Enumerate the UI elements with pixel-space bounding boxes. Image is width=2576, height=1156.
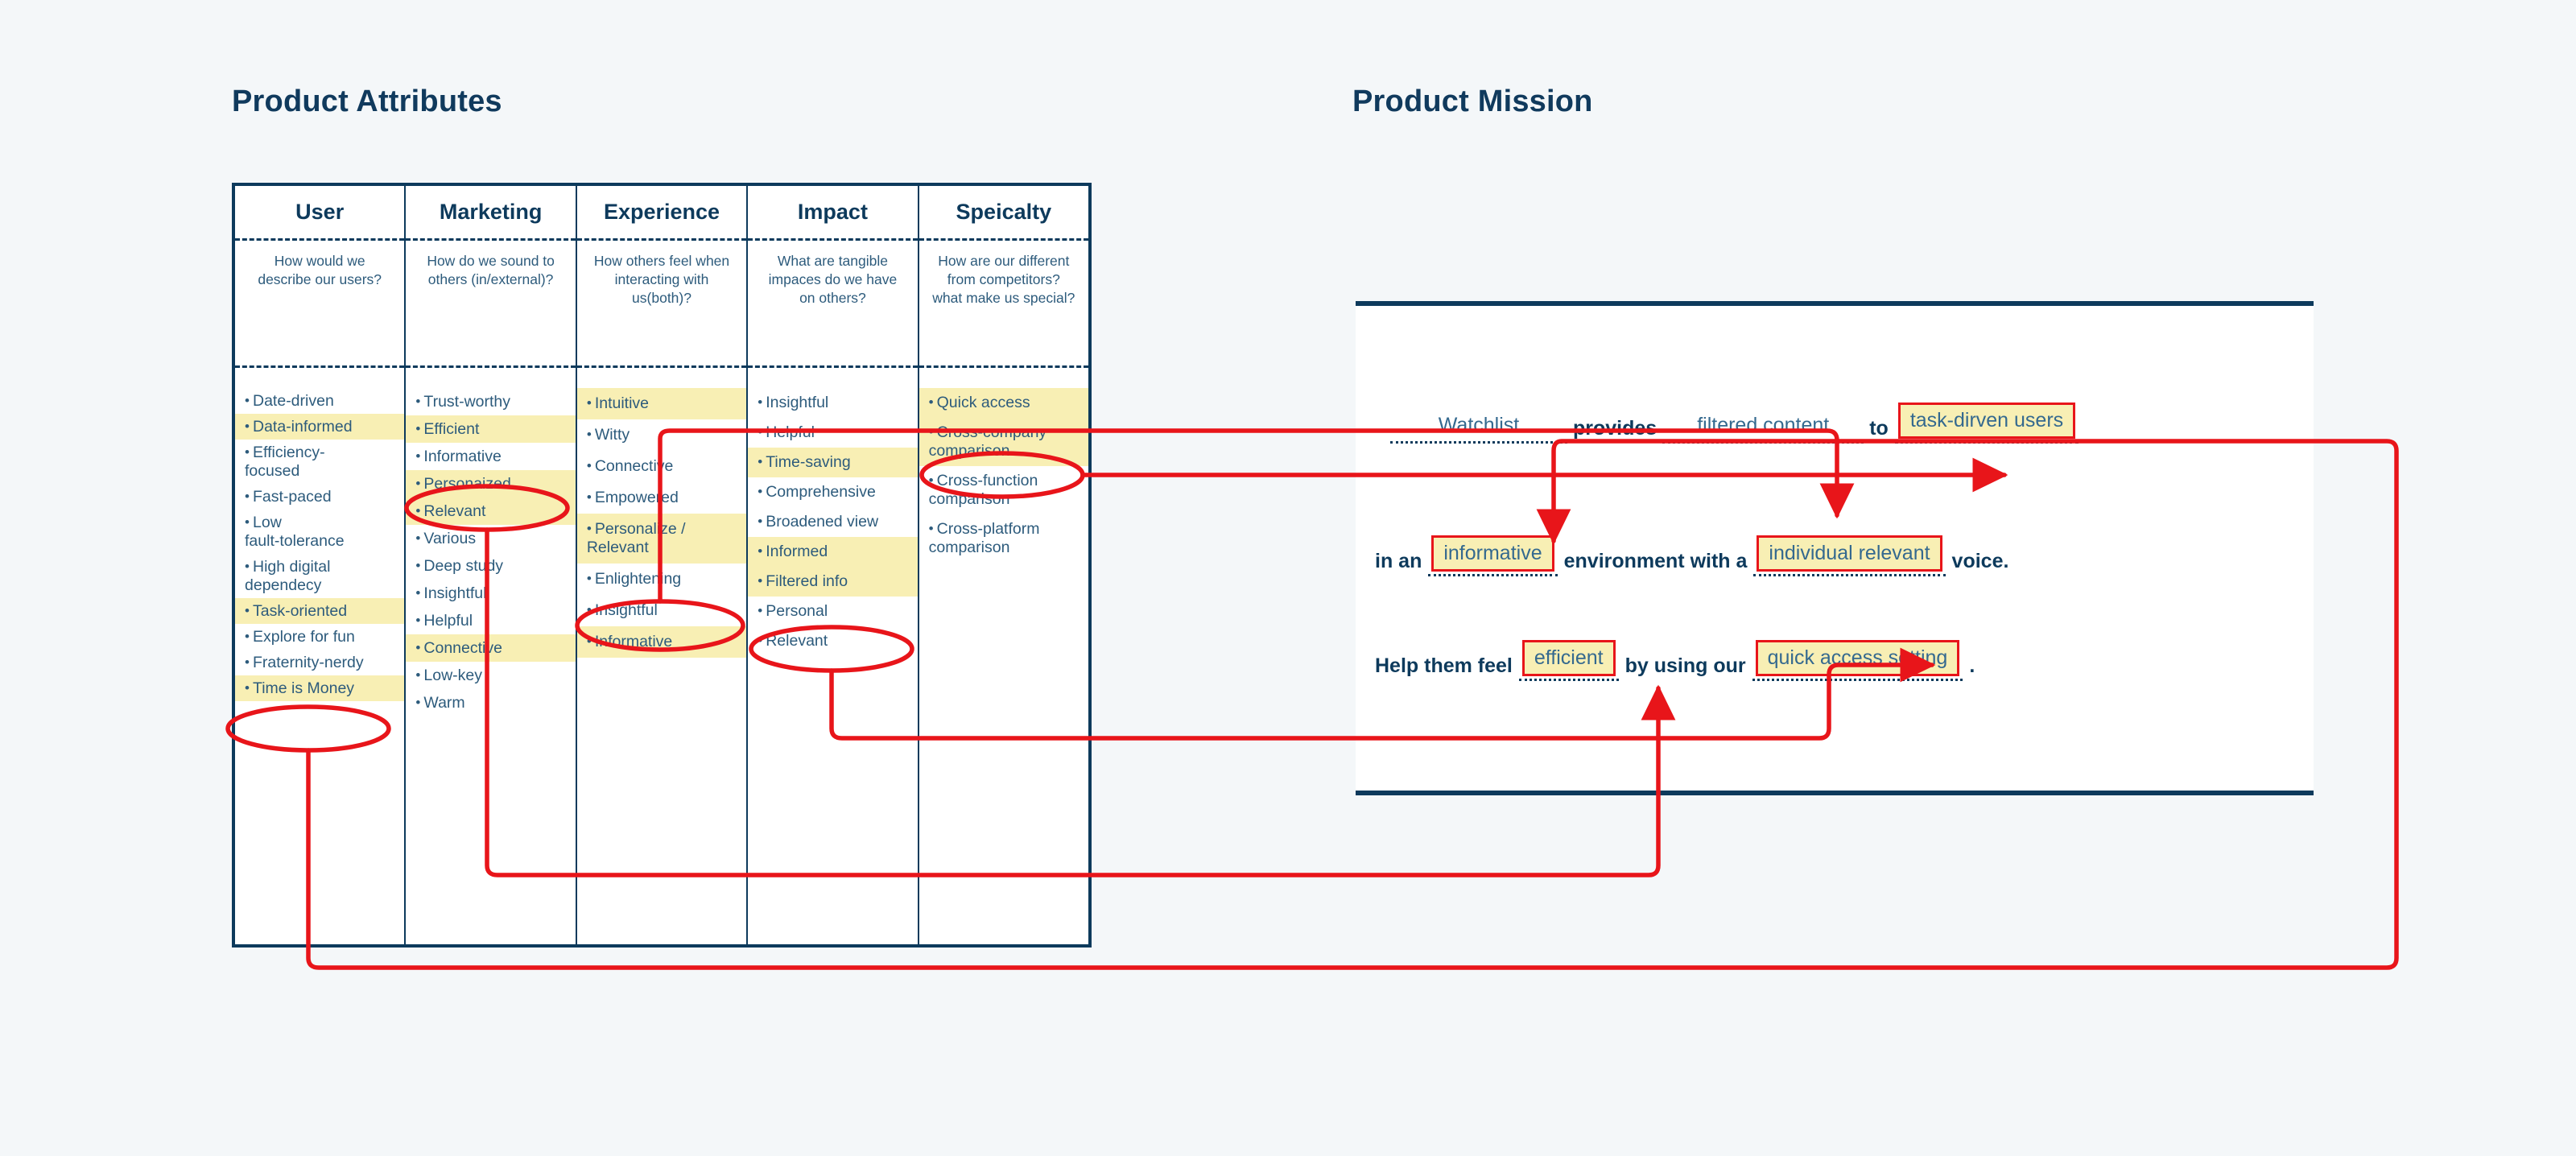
column-question-user: How would we describe our users? (235, 241, 404, 368)
list-item[interactable]: •Data-informed (235, 414, 404, 440)
product-attributes-table: User How would we describe our users? •D… (232, 183, 1092, 948)
bullet-icon: • (415, 585, 423, 601)
list-item[interactable]: •Insightful (577, 595, 746, 626)
mission-feeling-wrap: efficient (1519, 640, 1619, 681)
attribute-column-marketing: Marketing How do we sound to others (in/… (406, 186, 576, 944)
mission-offering-blank[interactable]: filtered content (1662, 413, 1864, 444)
list-item[interactable]: •Witty (577, 419, 746, 451)
list-item[interactable]: •Filtered info (748, 567, 917, 597)
blank-underline (1428, 574, 1557, 576)
bullet-icon: • (245, 629, 253, 645)
bullet-icon: • (587, 521, 595, 537)
list-item[interactable]: •Low-key (406, 662, 575, 689)
bullet-icon: • (758, 573, 766, 589)
list-item[interactable]: •Enlightening (577, 564, 746, 595)
bullet-icon: • (415, 421, 423, 437)
attribute-list-experience: •Intuitive •Witty •Connective •Empowered… (577, 368, 746, 944)
bullet-icon: • (758, 514, 766, 530)
column-question-speicalty: How are our different from competitors? … (919, 241, 1088, 368)
bullet-icon: • (758, 603, 766, 619)
list-item[interactable]: •Broadened view (748, 507, 917, 537)
mission-product-blank[interactable]: Watchlist (1390, 413, 1567, 444)
page-title-product-attributes: Product Attributes (232, 85, 502, 119)
list-item-task-oriented[interactable]: •Task-oriented (235, 598, 404, 624)
list-item[interactable]: •Cross-platform comparison (919, 514, 1088, 563)
list-item[interactable]: •Personaized (406, 470, 575, 497)
list-item[interactable]: •Cross-function comparison (919, 466, 1088, 514)
list-item[interactable]: •Connective (406, 634, 575, 662)
bullet-icon: • (587, 458, 595, 474)
mission-tone-token[interactable]: informative (1431, 535, 1554, 572)
mission-voice-token[interactable]: individual relevant (1757, 535, 1942, 572)
mission-tone-wrap: informative (1428, 535, 1557, 576)
list-item[interactable]: •Connective (577, 451, 746, 482)
mission-feeling-token[interactable]: efficient (1522, 640, 1616, 676)
column-question-impact: What are tangible impaces do we have on … (748, 241, 917, 368)
attribute-column-experience: Experience How others feel when interact… (577, 186, 748, 944)
list-item[interactable]: •Informative (406, 443, 575, 470)
list-item-personalize-relevant[interactable]: •Personalize / Relevant (577, 514, 746, 564)
list-item-efficient[interactable]: •Efficient (406, 415, 575, 443)
mission-feature-wrap: quick access setting (1752, 640, 1963, 681)
bullet-icon: • (758, 633, 766, 649)
page-title-product-mission: Product Mission (1352, 85, 1593, 119)
bullet-icon: • (415, 667, 423, 683)
bullet-icon: • (415, 448, 423, 464)
column-question-marketing: How do we sound to others (in/external)? (406, 241, 575, 368)
bullet-icon: • (929, 473, 937, 489)
list-item[interactable]: •Relevant (748, 626, 917, 656)
bullet-icon: • (587, 602, 595, 618)
column-header-marketing: Marketing (406, 186, 575, 241)
list-item[interactable]: •Various (406, 525, 575, 552)
bullet-icon: • (245, 419, 253, 435)
bullet-icon: • (929, 424, 937, 440)
mission-audience-wrap: task-dirven users (1895, 403, 2079, 444)
bullet-icon: • (587, 427, 595, 443)
attribute-column-speicalty: Speicalty How are our different from com… (919, 186, 1088, 944)
bullet-icon: • (245, 559, 253, 575)
bullet-icon: • (415, 531, 423, 547)
bullet-icon: • (245, 514, 253, 531)
list-item[interactable]: •Low fault-tolerance (235, 510, 404, 554)
column-header-impact: Impact (748, 186, 917, 241)
bullet-icon: • (245, 654, 253, 671)
bullet-icon: • (587, 489, 595, 506)
attribute-list-speicalty: •Quick access •Cross-company comparison … (919, 368, 1088, 944)
canvas: Product Attributes Product Mission User … (0, 0, 2576, 1156)
mission-prefix-in-an: in an (1372, 550, 1425, 576)
list-item[interactable]: •Helpful (406, 607, 575, 634)
list-item[interactable]: •Helpful (748, 418, 917, 448)
list-item[interactable]: •Fast-paced (235, 484, 404, 510)
bullet-icon: • (245, 489, 253, 505)
list-item[interactable]: •Relevant (406, 497, 575, 525)
list-item[interactable]: •Cross-company comparison (919, 418, 1088, 466)
mission-connector-to: to (1866, 417, 1892, 444)
blank-underline (1752, 679, 1963, 681)
bullet-icon: • (758, 484, 766, 500)
mission-verb-provides: provides (1570, 417, 1660, 444)
mission-suffix-voice: voice. (1949, 550, 2013, 576)
attribute-list-marketing: •Trust-worthy •Efficient •Informative •P… (406, 368, 575, 944)
product-mission-panel: Watchlist provides filtered content to t… (1356, 301, 2314, 795)
list-item[interactable]: •Personal (748, 597, 917, 626)
mission-statement-line-2: in an informative environment with a ind… (1372, 535, 2012, 576)
bullet-icon: • (929, 394, 937, 411)
bullet-icon: • (415, 640, 423, 656)
column-header-speicalty: Speicalty (919, 186, 1088, 241)
bullet-icon: • (415, 503, 423, 519)
blank-underline (1519, 679, 1619, 681)
list-item[interactable]: •Empowered (577, 482, 746, 514)
bullet-icon: • (758, 424, 766, 440)
bullet-icon: • (929, 521, 937, 537)
list-item[interactable]: •Informative (577, 626, 746, 658)
blank-underline (1895, 441, 2079, 444)
column-header-experience: Experience (577, 186, 746, 241)
bullet-icon: • (758, 394, 766, 411)
attribute-column-user: User How would we describe our users? •D… (235, 186, 406, 944)
list-item-quick-access[interactable]: •Quick access (919, 388, 1088, 418)
bullet-icon: • (587, 634, 595, 650)
list-item[interactable]: •Date-driven (235, 388, 404, 414)
mission-middle-by-using-our: by using our (1622, 654, 1749, 681)
bullet-icon: • (245, 603, 253, 619)
list-item[interactable]: •Insightful (406, 580, 575, 607)
mission-prefix-help-them-feel: Help them feel (1372, 654, 1516, 681)
list-item[interactable]: •Explore for fun (235, 624, 404, 650)
bullet-icon: • (415, 558, 423, 574)
mission-audience-token[interactable]: task-dirven users (1898, 403, 2075, 439)
mission-statement-line-1: Watchlist provides filtered content to t… (1388, 403, 2082, 444)
mission-suffix-period: . (1966, 654, 1978, 681)
bullet-icon: • (758, 543, 766, 559)
bullet-icon: • (415, 476, 423, 492)
list-item[interactable]: •Efficiency- focused (235, 440, 404, 484)
attribute-list-user: •Date-driven •Data-informed •Efficiency-… (235, 368, 404, 944)
bullet-icon: • (245, 680, 253, 696)
column-question-experience: How others feel when interacting with us… (577, 241, 746, 368)
list-item[interactable]: •Warm (406, 689, 575, 716)
mission-feature-token[interactable]: quick access setting (1756, 640, 1960, 676)
bullet-icon: • (415, 613, 423, 629)
bullet-icon: • (415, 394, 423, 410)
list-item[interactable]: •Fraternity-nerdy (235, 650, 404, 675)
bullet-icon: • (415, 695, 423, 711)
list-item[interactable]: •Trust-worthy (406, 388, 575, 415)
bullet-icon: • (587, 571, 595, 587)
mission-statement-line-3: Help them feel efficient by using our qu… (1372, 640, 1978, 681)
list-item[interactable]: •Intuitive (577, 388, 746, 419)
column-header-user: User (235, 186, 404, 241)
bullet-icon: • (245, 444, 253, 460)
list-item[interactable]: •Deep study (406, 552, 575, 580)
attribute-list-impact: •Insightful •Helpful •Time-saving •Compr… (748, 368, 917, 944)
attribute-column-impact: Impact What are tangible impaces do we h… (748, 186, 919, 944)
blank-underline (1753, 574, 1945, 576)
list-item[interactable]: •Time is Money (235, 675, 404, 701)
list-item-informed[interactable]: •Informed (748, 537, 917, 567)
mission-middle-environment: environment with a (1561, 550, 1751, 576)
bullet-icon: • (245, 393, 253, 409)
list-item[interactable]: •High digital dependecy (235, 554, 404, 598)
list-item[interactable]: •Insightful (748, 388, 917, 418)
list-item[interactable]: •Time-saving (748, 448, 917, 477)
list-item[interactable]: •Comprehensive (748, 477, 917, 507)
mission-voice-wrap: individual relevant (1753, 535, 1945, 576)
bullet-icon: • (587, 395, 595, 411)
bullet-icon: • (758, 454, 766, 470)
